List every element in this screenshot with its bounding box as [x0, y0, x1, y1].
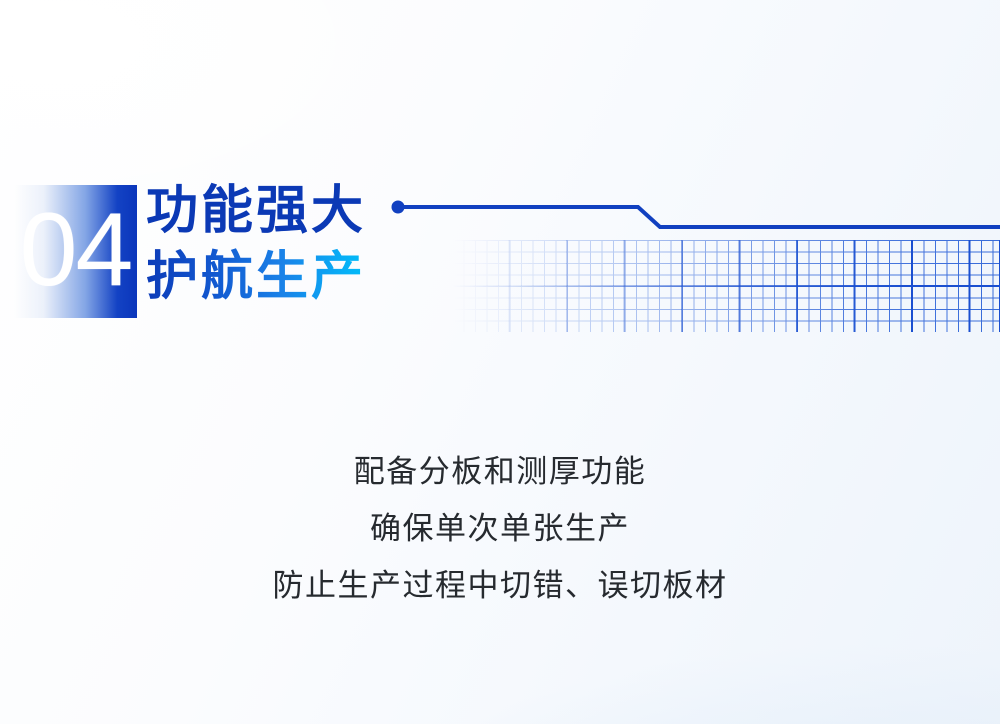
section-number-badge: 04 — [14, 185, 137, 318]
connector-dot-icon — [392, 201, 405, 214]
body-copy-line: 防止生产过程中切错、误切板材 — [0, 557, 1000, 614]
body-copy-line: 确保单次单张生产 — [0, 500, 1000, 557]
header-connector-line — [380, 190, 1000, 250]
section-number-text: 04 — [20, 198, 132, 302]
connector-polyline — [398, 207, 1000, 227]
section-header: 04 功能强大 护航生产 — [0, 0, 1000, 340]
section-heading-line-2: 护航生产 — [146, 244, 366, 310]
body-copy: 配备分板和测厚功能 确保单次单张生产 防止生产过程中切错、误切板材 — [0, 443, 1000, 614]
section-heading-line-1: 功能强大 — [146, 178, 366, 244]
body-copy-line: 配备分板和测厚功能 — [0, 443, 1000, 500]
section-heading-block: 功能强大 护航生产 — [146, 178, 366, 310]
